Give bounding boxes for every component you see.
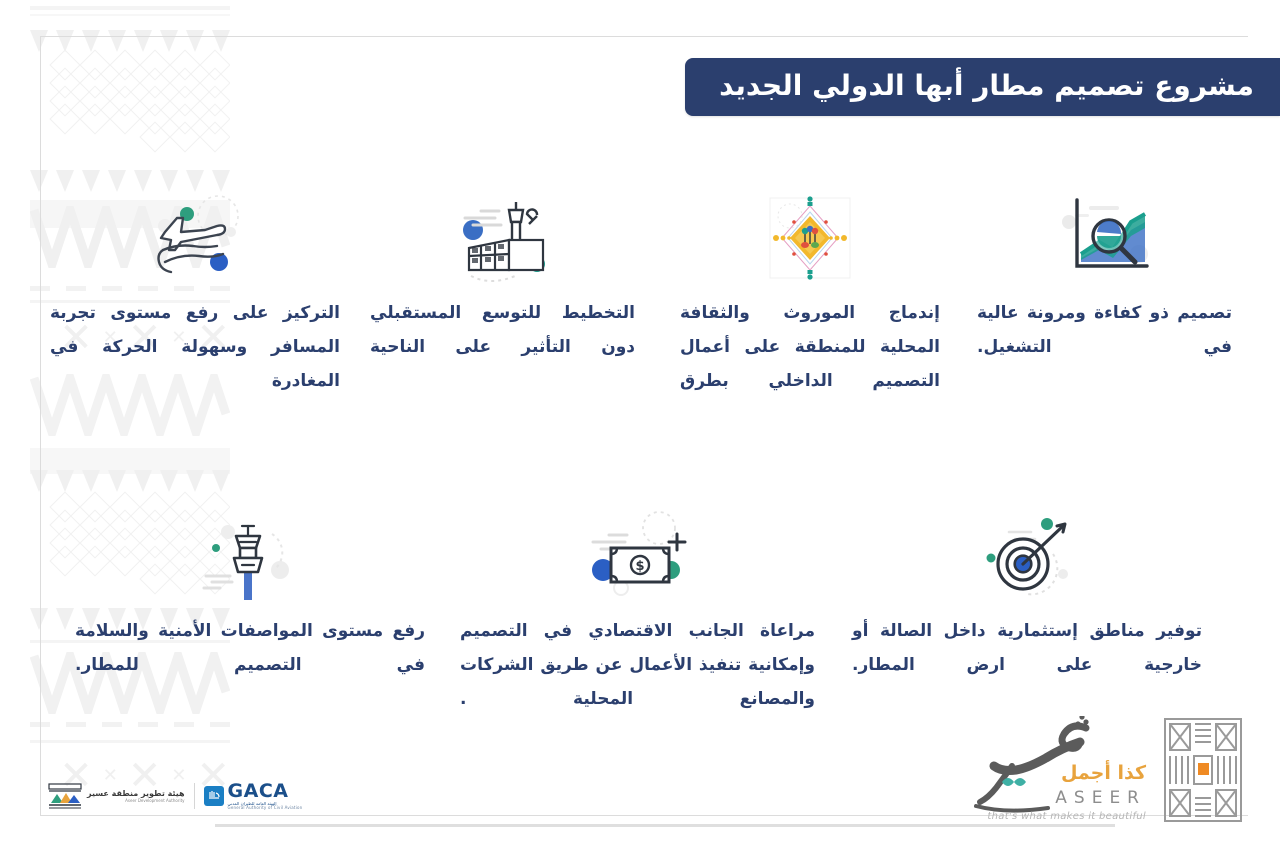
gaca-name-en-sub: General Authority of Civil Aviation [228,806,303,810]
objective-card-heritage: إندماج الموروث والثقافة المحلية للمنطقة … [680,190,940,398]
objective-card-economic: $ مراعاة الجانب الاقتصادي في التصميم وإم… [460,508,815,716]
aseer-authority-name-en: Aseer Development Authority [87,799,185,804]
objective-card-investment-zones: توفير مناطق إستثمارية داخل الصالة أو خار… [852,508,1202,682]
footer-divider [194,783,195,809]
aseer-name-en: ASEER [1055,788,1146,808]
objective-text: إندماج الموروث والثقافة المحلية للمنطقة … [680,296,940,398]
objective-text: التركيز على رفع مستوى تجربة المسافر وسهو… [50,296,340,398]
heritage-pattern-icon [680,190,940,286]
aseer-tagline: that's what makes it beautiful [987,811,1146,822]
plane-in-hand-icon [50,190,340,286]
svg-text:$: $ [635,559,644,574]
target-arrow-icon [852,508,1202,604]
aseer-kadha-ajmal-text: كذا أجمل [1061,762,1146,784]
aseer-brand-logo: كذا أجمل ASEER that's what makes it beau… [960,716,1150,824]
aseer-emblem-icon [48,783,82,809]
gaca-name-en: GACA [228,782,303,802]
control-tower-icon [75,508,425,604]
objective-text: رفع مستوى المواصفات الأمنية والسلامة في … [75,614,425,682]
footer-logos-left: هيئة تطوير منطقة عسير Aseer Development … [48,782,302,811]
objective-text: توفير مناطق إستثمارية داخل الصالة أو خار… [852,614,1202,682]
terminal-tower-icon [370,190,635,286]
objective-text: التخطيط للتوسع المستقبلي دون التأثير على… [370,296,635,364]
chart-magnifier-icon [977,190,1232,286]
footer-baseline [215,824,1115,827]
page-title: مشروع تصميم مطار أبها الدولي الجديد [685,58,1280,116]
aseer-development-authority-logo: هيئة تطوير منطقة عسير Aseer Development … [48,783,185,809]
objective-card-efficiency: تصميم ذو كفاءة ومرونة عالية في التشغيل. [977,190,1232,364]
objective-card-passenger-experience: التركيز على رفع مستوى تجربة المسافر وسهو… [50,190,340,398]
objective-text: مراعاة الجانب الاقتصادي في التصميم وإمكا… [460,614,815,716]
gaca-mark-icon [204,786,224,806]
objective-card-security-safety: رفع مستوى المواصفات الأمنية والسلامة في … [75,508,425,682]
banknote-dollar-icon: $ [460,508,815,604]
footer-logos-right: كذا أجمل ASEER that's what makes it beau… [960,716,1242,824]
objective-card-expansion: التخطيط للتوسع المستقبلي دون التأثير على… [370,190,635,364]
aseer-geometric-pattern-icon [1164,718,1242,822]
objective-text: تصميم ذو كفاءة ومرونة عالية في التشغيل. [977,296,1232,364]
gaca-logo: GACA الهيئة العامة للطيران المدني Genera… [204,782,303,811]
